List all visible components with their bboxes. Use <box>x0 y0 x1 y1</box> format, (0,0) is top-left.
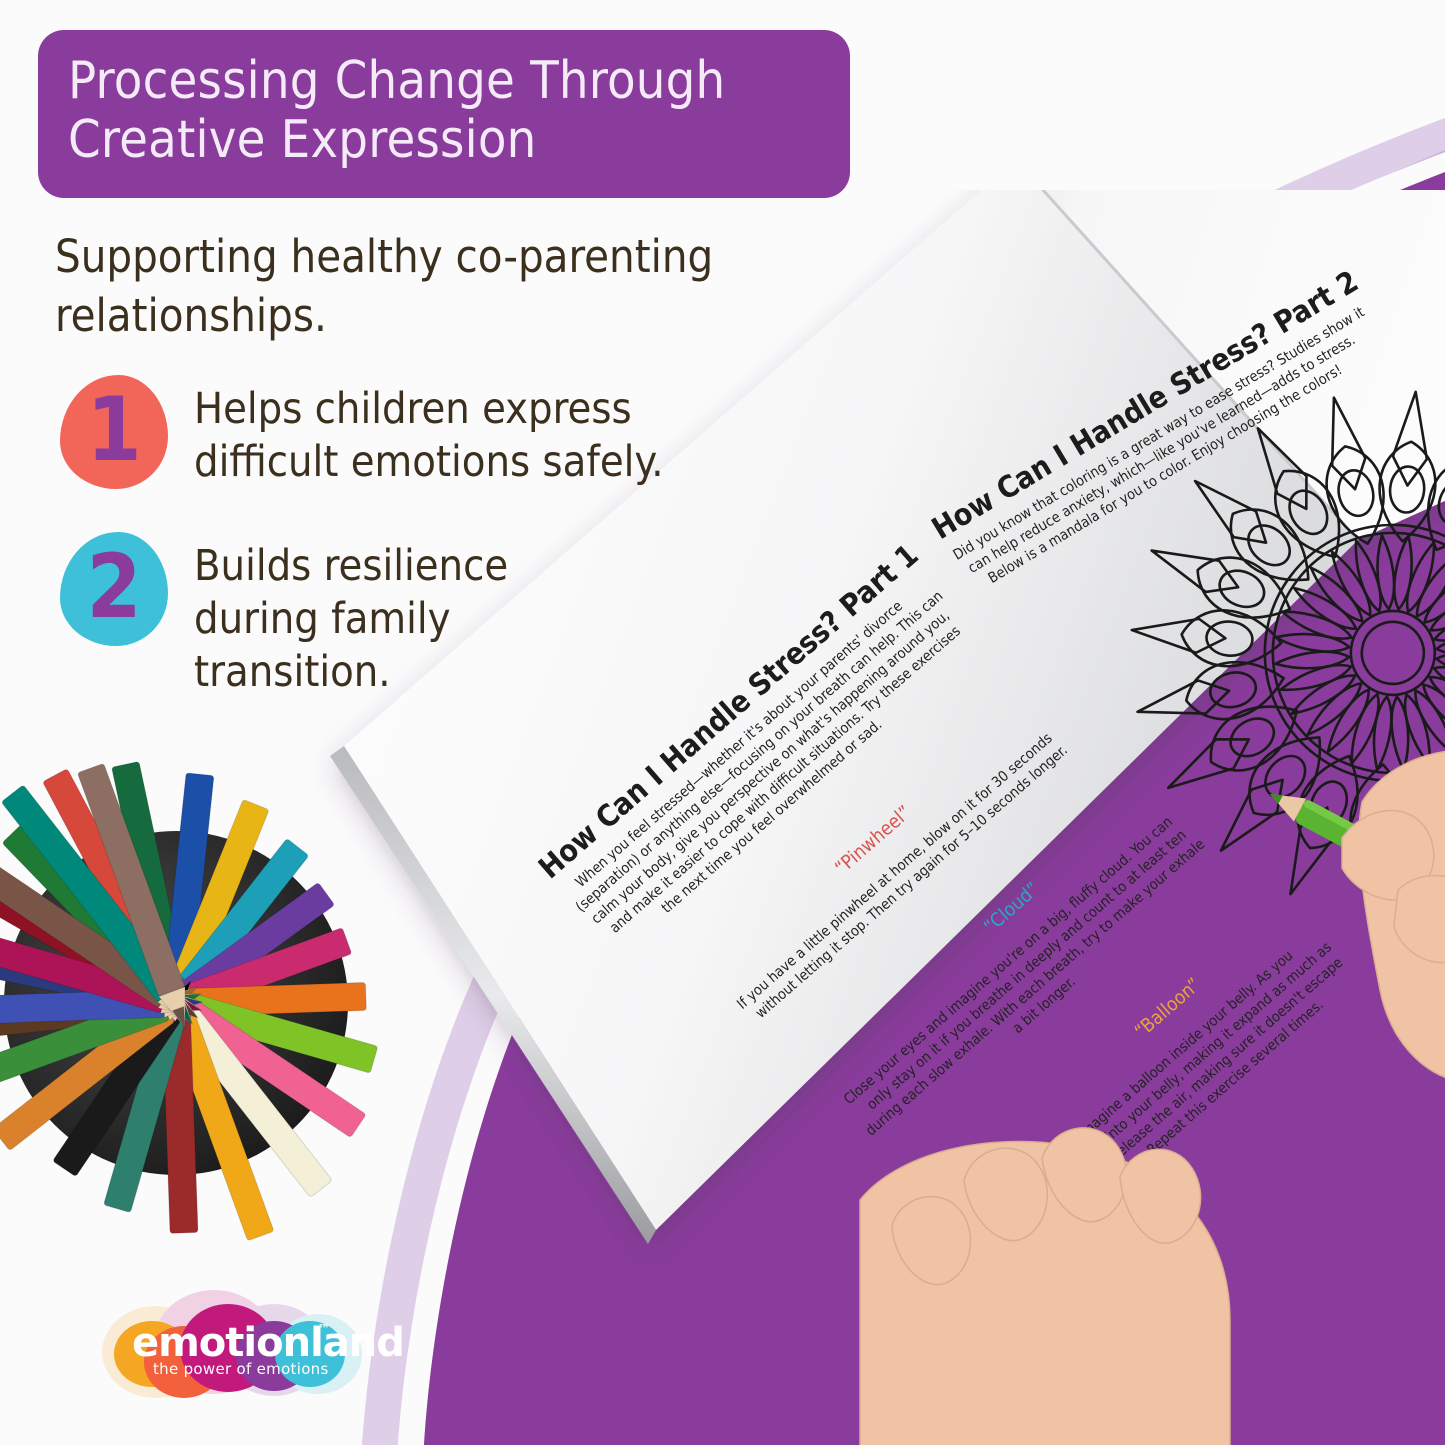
colored-pencils-cup <box>0 735 400 1255</box>
benefit-text-2-line2: during family <box>194 593 508 646</box>
page-title-line1: Processing Change Through <box>68 52 820 111</box>
benefit-text-1-line2: difficult emotions safely. <box>194 436 663 489</box>
benefit-text-2-line1: Builds resilience <box>194 540 508 593</box>
promo-graphic: Processing Change Through Creative Expre… <box>0 0 1445 1445</box>
emotionland-logo[interactable]: emotionland ™ the power of emotions <box>96 1282 366 1414</box>
logo-tagline: the power of emotions <box>153 1360 329 1378</box>
benefit-text-1: Helps children express difficult emotion… <box>194 375 663 490</box>
benefit-item-2: 2 Builds resilience during family transi… <box>60 532 740 700</box>
benefit-text-2: Builds resilience during family transiti… <box>194 532 508 700</box>
childs-hand-resting-on-page <box>860 1128 1230 1445</box>
subtitle-line1: Supporting healthy co-parenting <box>55 228 815 287</box>
badge-number-2: 2 <box>86 543 141 631</box>
subtitle: Supporting healthy co-parenting relation… <box>55 228 815 345</box>
pencil-fan <box>0 761 378 1240</box>
number-badge-2: 2 <box>60 532 168 646</box>
benefit-item-1: 1 Helps children express difficult emoti… <box>60 375 740 490</box>
benefit-text-2-line3: transition. <box>194 646 508 699</box>
page-title-line2: Creative Expression <box>68 111 820 170</box>
number-badge-1: 1 <box>60 375 168 489</box>
trademark-icon: ™ <box>318 1322 330 1336</box>
benefit-text-1-line1: Helps children express <box>194 383 663 436</box>
title-badge: Processing Change Through Creative Expre… <box>38 30 850 198</box>
benefit-list: 1 Helps children express difficult emoti… <box>60 375 740 742</box>
badge-number-1: 1 <box>86 386 141 474</box>
subtitle-line2: relationships. <box>55 287 815 346</box>
